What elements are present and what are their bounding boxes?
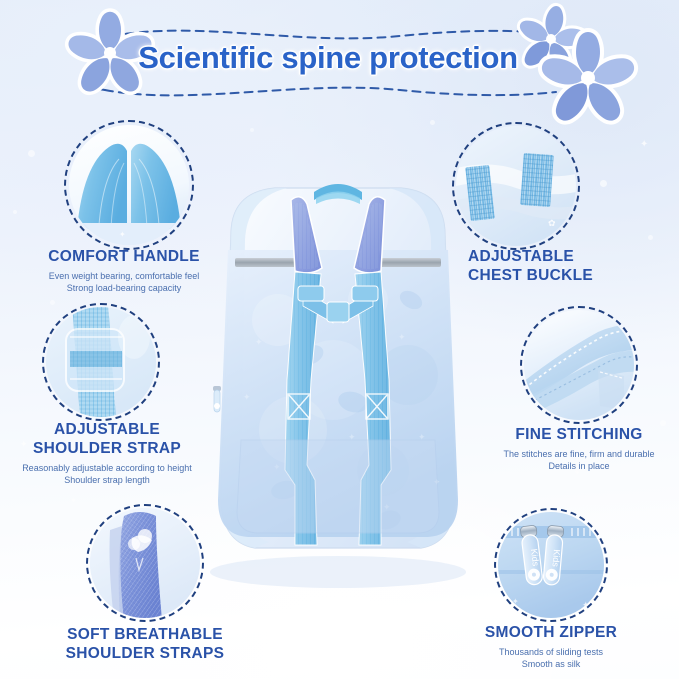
callout-fine-stitching: FINE STITCHING The stitches are fine, fi… — [520, 306, 638, 424]
feature-sub-line1: Thousands of sliding tests — [426, 646, 676, 658]
feature-sub-line2: Smooth as silk — [426, 658, 676, 670]
label-soft-breathable-shoulder-straps: SOFT BREATHABLE SHOULDER STRAPS — [20, 626, 270, 664]
dashed-ring — [42, 303, 160, 421]
sakura-flower-icon — [533, 28, 643, 133]
header-banner: Scientific spine protection — [0, 0, 679, 118]
feature-title-line1: ADJUSTABLE — [0, 421, 232, 440]
dashed-ring — [494, 508, 608, 622]
feature-title: COMFORT HANDLE — [0, 248, 249, 267]
feature-title: SMOOTH ZIPPER — [426, 624, 676, 643]
svg-text:✦: ✦ — [243, 392, 251, 402]
callout-adjustable-chest-buckle: ✿ ADJUSTABLE CHEST BUCKLE — [452, 122, 580, 250]
feature-sub-line2: Strong load-bearing capacity — [0, 282, 249, 294]
callout-soft-breathable-shoulder-straps: SOFT BREATHABLE SHOULDER STRAPS — [86, 504, 204, 622]
feature-title-line1: SOFT BREATHABLE — [20, 626, 270, 645]
feature-title-line2: SHOULDER STRAP — [0, 440, 232, 459]
label-fine-stitching: FINE STITCHING The stitches are fine, fi… — [454, 426, 679, 473]
label-adjustable-shoulder-strap: ADJUSTABLE SHOULDER STRAP Reasonably adj… — [0, 421, 232, 487]
label-adjustable-chest-buckle: ADJUSTABLE CHEST BUCKLE — [468, 248, 679, 286]
callout-smooth-zipper: Kids Kids ✦ ✦ — [494, 508, 608, 622]
feature-sub-line1: Reasonably adjustable according to heigh… — [0, 462, 232, 474]
label-smooth-zipper: SMOOTH ZIPPER Thousands of sliding tests… — [426, 624, 676, 671]
feature-sub-line1: Even weight bearing, comfortable feel — [0, 270, 249, 282]
page-title: Scientific spine protection — [118, 40, 538, 88]
svg-text:✦: ✦ — [398, 332, 406, 342]
feature-title-line1: ADJUSTABLE — [468, 248, 679, 267]
product-image-backpack: ✦ ✦ ✦ ✦ ✦ ✦ ✦ ✦ ✦ ✦ — [183, 140, 493, 605]
dashed-ring — [520, 306, 638, 424]
dashed-ring — [64, 120, 194, 250]
dashed-ring — [452, 122, 580, 250]
callout-comfort-handle: ✦ COMFORT HANDLE Even weight bearing, co… — [64, 120, 194, 250]
feature-title-line2: CHEST BUCKLE — [468, 267, 679, 286]
feature-title-line2: SHOULDER STRAPS — [20, 645, 270, 664]
label-comfort-handle: COMFORT HANDLE Even weight bearing, comf… — [0, 248, 249, 295]
feature-sub-line1: The stitches are fine, firm and durable — [454, 448, 679, 460]
infographic-page: ✦ ✦ ✦ ✦ — [0, 0, 679, 679]
callout-adjustable-shoulder-strap: ADJUSTABLE SHOULDER STRAP Reasonably adj… — [42, 303, 160, 421]
feature-sub-line2: Details in place — [454, 460, 679, 472]
feature-title: FINE STITCHING — [454, 426, 679, 445]
svg-text:✦: ✦ — [255, 337, 263, 347]
feature-sub-line2: Shoulder strap length — [0, 474, 232, 486]
dashed-ring — [86, 504, 204, 622]
